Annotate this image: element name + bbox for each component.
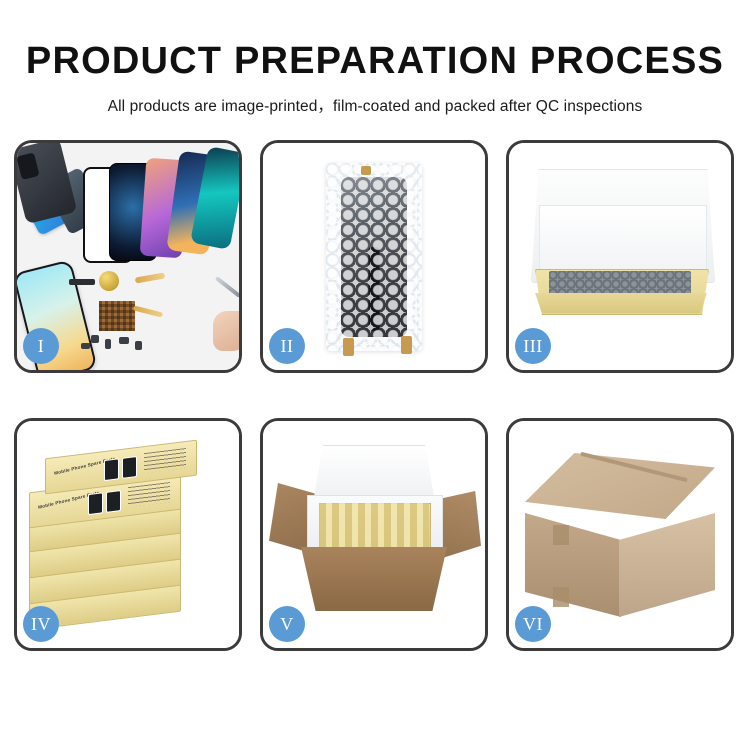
box-spec-lines-2 — [128, 482, 170, 507]
box-stack: Mobile Phone Spare Parts Mobile Phone Sp… — [29, 443, 235, 633]
box-window-1b — [122, 456, 137, 479]
flex-cable-part-b — [133, 305, 163, 317]
step-badge-3: III — [515, 328, 551, 364]
phone-rear-housing — [17, 143, 77, 224]
battery-connector-part — [69, 279, 95, 285]
screw-tray-part — [99, 301, 135, 331]
small-part-c — [119, 337, 129, 344]
box-window-2a — [88, 492, 103, 515]
box-window-2b — [106, 490, 121, 513]
box-window-1a — [104, 458, 119, 481]
tweezers-tool — [215, 276, 239, 298]
carton-left-face — [525, 513, 621, 617]
inner-boxes-rows — [319, 503, 429, 549]
small-part-a — [91, 335, 99, 343]
box-spec-lines-1 — [144, 448, 186, 473]
grey-foam-insert — [549, 271, 691, 295]
carton-body — [301, 547, 447, 611]
product-preparation-infographic: PRODUCT PREPARATION PROCESS All products… — [0, 0, 750, 750]
step-panel-3: III — [506, 140, 734, 373]
gold-speaker-part — [99, 271, 119, 291]
header: PRODUCT PREPARATION PROCESS All products… — [0, 0, 750, 116]
small-part-e — [81, 343, 90, 349]
small-part-b — [105, 339, 111, 349]
carton-right-face — [619, 513, 715, 617]
small-part-d — [135, 341, 142, 350]
page-title: PRODUCT PREPARATION PROCESS — [0, 0, 750, 80]
step-panel-4: Mobile Phone Spare Parts Mobile Phone Sp… — [14, 418, 242, 651]
flex-cable-part-a — [135, 272, 166, 283]
carton-tape-lower — [553, 587, 569, 607]
technician-hand — [213, 311, 239, 351]
tape-top — [361, 166, 371, 175]
tape-bottom-right — [401, 336, 412, 354]
step-panel-1: I — [14, 140, 242, 373]
step-panel-2: II — [260, 140, 488, 373]
step-panel-5: V — [260, 418, 488, 651]
step-badge-5: V — [269, 606, 305, 642]
carton-tape-upper — [553, 525, 569, 545]
step-badge-2: II — [269, 328, 305, 364]
steps-grid: I II III — [14, 140, 736, 685]
tape-bottom-left — [343, 338, 354, 356]
part-flex-cable — [369, 247, 380, 331]
step-panel-6: VI — [506, 418, 734, 651]
step-badge-4: IV — [23, 606, 59, 642]
step-badge-1: I — [23, 328, 59, 364]
page-subtitle: All products are image-printed，film-coat… — [0, 80, 750, 116]
step-badge-6: VI — [515, 606, 551, 642]
white-foam-sheet — [539, 205, 707, 279]
yellow-box-side — [535, 293, 707, 313]
